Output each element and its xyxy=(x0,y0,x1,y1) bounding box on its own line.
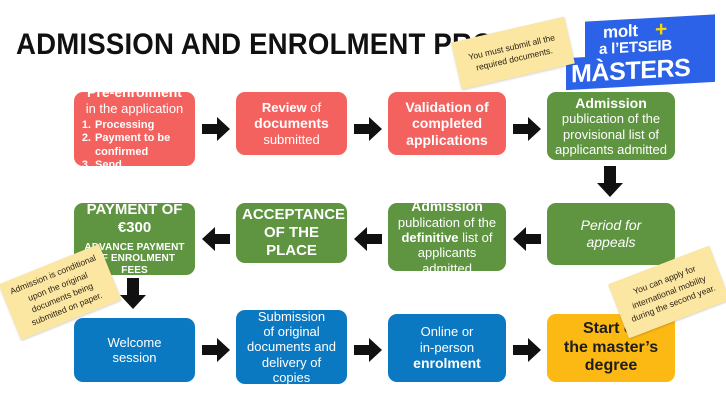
box-line-3: degree xyxy=(553,357,669,376)
box-line-2: publication of the xyxy=(394,215,500,230)
box-line-3-tail: list of xyxy=(459,230,493,245)
note-text: You can apply for international mobility… xyxy=(618,258,719,327)
list-item-label: Send xyxy=(95,159,122,172)
box-line-4: applicants admitted xyxy=(553,142,669,157)
process-box-pre-enrolment[interactable]: Pre-enrolment in the application 1.Proce… xyxy=(74,92,195,166)
box-line-2: the master’s xyxy=(553,339,669,358)
process-box-online-enrolment[interactable]: Online or in-person enrolment xyxy=(388,314,506,382)
box-line-2: appeals xyxy=(553,234,669,251)
box-line-2: OF THE PLACE xyxy=(242,224,341,259)
box-line-1-tail: of xyxy=(307,100,321,115)
box-line-1: Admission xyxy=(394,198,500,215)
box-line-4: applicants admitted xyxy=(394,245,500,276)
box-line-1: ACCEPTANCE xyxy=(242,206,341,224)
box-line-1: Submission xyxy=(242,309,341,324)
plus-icon: + xyxy=(655,22,667,39)
arrow-right-4 xyxy=(202,337,228,363)
box-line-2: session xyxy=(80,350,189,365)
box-line-1: Online or xyxy=(394,324,500,339)
box-line-1: Period for xyxy=(553,217,669,234)
process-box-review-documents[interactable]: Review of documents submitted xyxy=(236,92,347,155)
box-line-2: in the application xyxy=(80,101,189,116)
list-item-label: Processing xyxy=(95,119,154,132)
box-line-1: Admission xyxy=(553,95,669,112)
arrow-right-5 xyxy=(354,337,380,363)
note-text: You must submit all the required documen… xyxy=(461,30,564,77)
list-item-label: Payment to be confirmed xyxy=(95,132,189,158)
box-line-3-bold: definitive xyxy=(401,230,458,245)
process-box-period-appeals[interactable]: Period for appeals xyxy=(547,203,675,265)
box-line-3: documents and xyxy=(242,339,341,354)
arrow-right-1 xyxy=(202,116,228,142)
box-line-2: publication of the xyxy=(553,111,669,126)
box-line-2: documents xyxy=(242,115,341,132)
process-box-admission-provisional[interactable]: Admission publication of the provisional… xyxy=(547,92,675,160)
box-line-1: Welcome xyxy=(80,335,189,350)
box-line-2: of original xyxy=(242,324,341,339)
box-line-2: in-person xyxy=(394,340,500,355)
arrow-right-3 xyxy=(513,116,539,142)
box-line-1: Pre-enrolment xyxy=(80,84,189,101)
flowchart-canvas: ADMISSION AND ENROLMENT PROCESS molt + a… xyxy=(0,0,726,408)
box-line-1: PAYMENT OF xyxy=(80,201,189,219)
pre-enrolment-steps: 1.Processing 2.Payment to be confirmed 3… xyxy=(80,119,189,172)
process-box-welcome-session[interactable]: Welcome session xyxy=(74,318,195,382)
arrow-right-6 xyxy=(513,337,539,363)
process-box-submission-originals[interactable]: Submission of original documents and del… xyxy=(236,310,347,384)
box-line-2: completed xyxy=(394,115,500,132)
box-line-3: definitive list of xyxy=(394,230,500,245)
box-line-1: Validation of xyxy=(394,99,500,116)
process-box-validation-applications[interactable]: Validation of completed applications xyxy=(388,92,506,155)
list-item: 1.Processing xyxy=(80,119,189,132)
list-item: 3.Send xyxy=(80,159,189,172)
process-box-admission-definitive[interactable]: Admission publication of the definitive … xyxy=(388,203,506,271)
logo-molt-a-letseib-masters: molt + a l’ETSEIB MÀSTERS xyxy=(567,8,719,88)
box-line-3: submitted xyxy=(242,132,341,147)
box-line-2: €300 xyxy=(80,219,189,237)
box-line-3: applications xyxy=(394,132,500,149)
box-line-1-bold: Review xyxy=(262,100,307,115)
box-line-4: delivery of copies xyxy=(242,355,341,386)
arrow-right-2 xyxy=(354,116,380,142)
process-box-acceptance-place[interactable]: ACCEPTANCE OF THE PLACE xyxy=(236,203,347,263)
box-line-1: Review of xyxy=(242,100,341,115)
list-item: 2.Payment to be confirmed xyxy=(80,132,189,158)
box-line-3: enrolment xyxy=(394,355,500,372)
box-line-3: provisional list of xyxy=(553,127,669,142)
